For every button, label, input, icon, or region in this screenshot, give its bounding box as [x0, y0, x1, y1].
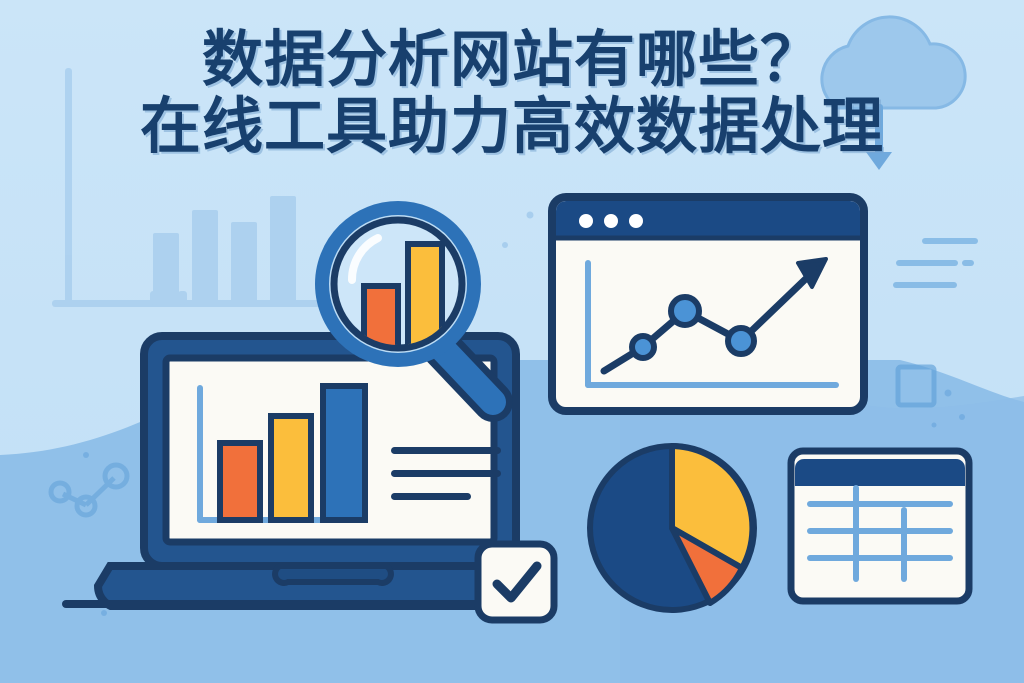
pie-chart[interactable] — [582, 438, 762, 618]
browser-dot-3[interactable] — [629, 214, 643, 228]
browser-dot-2[interactable] — [604, 214, 618, 228]
decor-dot-2 — [959, 414, 965, 420]
decor-dot-3 — [932, 423, 937, 428]
browser-window-line-chart[interactable] — [548, 193, 868, 415]
decor-dot-1 — [945, 390, 952, 397]
text-line-3 — [391, 493, 471, 500]
check-badge[interactable] — [472, 538, 560, 626]
decor-dash — [962, 260, 974, 266]
browser-titlebar — [556, 201, 860, 237]
decor-dot-5 — [101, 610, 107, 616]
browser-dot-1[interactable] — [579, 214, 593, 228]
magnifier-over-chart[interactable] — [308, 196, 523, 431]
data-table-card[interactable] — [786, 446, 974, 606]
bar-2 — [271, 416, 311, 520]
decor-line-2 — [896, 260, 958, 266]
laptop-trackpad-notch — [275, 566, 391, 583]
bar-1 — [220, 443, 260, 520]
text-line-2 — [391, 470, 501, 477]
check-badge-box — [478, 544, 554, 620]
illustration-canvas: 数据分析网站有哪些？ 在线工具助力高效数据处理 — [0, 0, 1024, 683]
decor-line-1 — [922, 238, 978, 244]
decor-line-3 — [893, 282, 957, 288]
table-header-bar — [795, 459, 965, 486]
text-line-1 — [391, 447, 501, 454]
